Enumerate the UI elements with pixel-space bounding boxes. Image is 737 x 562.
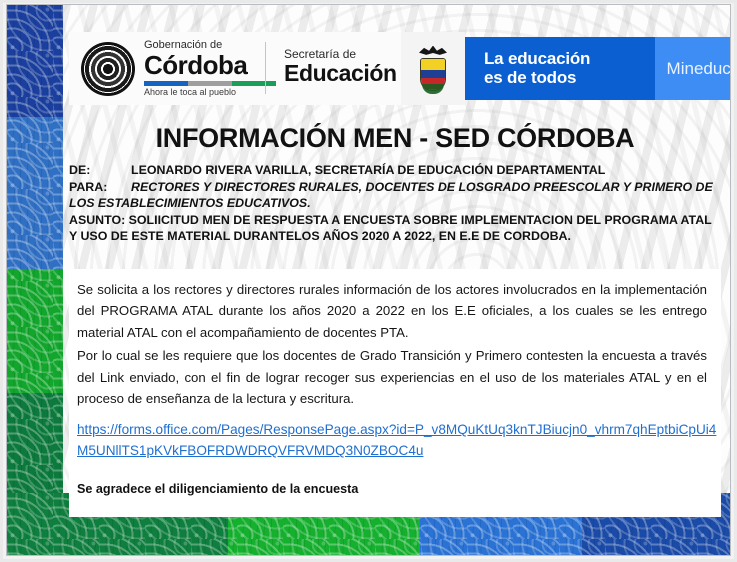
body-paragraphs: Se solicita a los rectores y directores … [77, 279, 707, 411]
laurel-icon [422, 84, 444, 94]
meta-row-asunto: ASUNTO: SOLIICITUD MEN DE RESPUESTA A EN… [69, 213, 712, 244]
header-logo-strip: Gobernación de Córdoba Ahora le toca al … [69, 32, 721, 105]
color-bar-grey [188, 81, 232, 86]
meta-label-de: DE: [69, 162, 131, 179]
gobernacion-big-label: Córdoba [144, 52, 276, 78]
secretaria-small-label: Secretaría de [284, 48, 397, 60]
body-card: Se solicita a los rectores y directores … [69, 269, 721, 517]
mineducacion-logo: La educación es de todos Mineducación [465, 37, 731, 100]
page-title: INFORMACIÓN MEN - SED CÓRDOBA [69, 123, 721, 154]
mineducacion-slogan-line1: La educación [484, 50, 655, 69]
meta-value-de: LEONARDO RIVERA VARILLA, SECRETARÍA DE E… [131, 163, 605, 177]
shield-stripe-yellow [421, 59, 445, 70]
mineducacion-slogan-panel: La educación es de todos [465, 37, 655, 100]
color-bar-green [232, 81, 276, 86]
gobernacion-text-block: Gobernación de Córdoba Ahora le toca al … [144, 40, 276, 97]
slide-inner-frame: Gobernación de Córdoba Ahora le toca al … [6, 4, 731, 556]
color-bar-blue [144, 81, 188, 86]
colombia-coat-of-arms-icon [416, 46, 450, 92]
gobernacion-cordoba-logo: Gobernación de Córdoba Ahora le toca al … [69, 32, 401, 105]
meta-label-para: PARA: [69, 179, 131, 196]
mineducacion-brand-panel: Mineducación [655, 37, 731, 100]
gobernacion-tagline: Ahora le toca al pueblo [144, 88, 276, 97]
secretaria-educacion-logo: Secretaría de Educación [284, 48, 397, 85]
meta-row-de: DE:LEONARDO RIVERA VARILLA, SECRETARÍA D… [69, 162, 721, 179]
secretaria-big-label: Educación [284, 62, 397, 85]
survey-link-container[interactable]: https://forms.office.com/Pages/ResponseP… [77, 419, 717, 461]
left-band-arc-pattern [7, 5, 63, 556]
left-decorative-band [7, 5, 63, 556]
body-paragraph-2: Por lo cual se les requiere que los doce… [77, 345, 707, 409]
meta-row-para: PARA:RECTORES Y DIRECTORES RURALES, DOCE… [69, 179, 721, 212]
colombia-coat-of-arms-container [401, 32, 465, 105]
logo-divider [265, 42, 266, 94]
survey-link[interactable]: https://forms.office.com/Pages/ResponseP… [77, 422, 716, 458]
shield-stripe-blue [421, 70, 445, 79]
mineducacion-slogan-line2: es de todos [484, 69, 655, 88]
document-meta-block: DE:LEONARDO RIVERA VARILLA, SECRETARÍA D… [69, 162, 721, 245]
cordoba-seal-icon [81, 42, 135, 96]
body-paragraph-1: Se solicita a los rectores y directores … [77, 279, 707, 343]
meta-value-para: RECTORES Y DIRECTORES RURALES, DOCENTES … [69, 180, 713, 211]
slide-canvas: Gobernación de Córdoba Ahora le toca al … [0, 0, 737, 562]
gobernacion-color-bar [144, 81, 276, 86]
mineducacion-brand-label: Mineducación [667, 59, 731, 79]
closing-note: Se agradece el diligenciamiento de la en… [77, 482, 358, 496]
